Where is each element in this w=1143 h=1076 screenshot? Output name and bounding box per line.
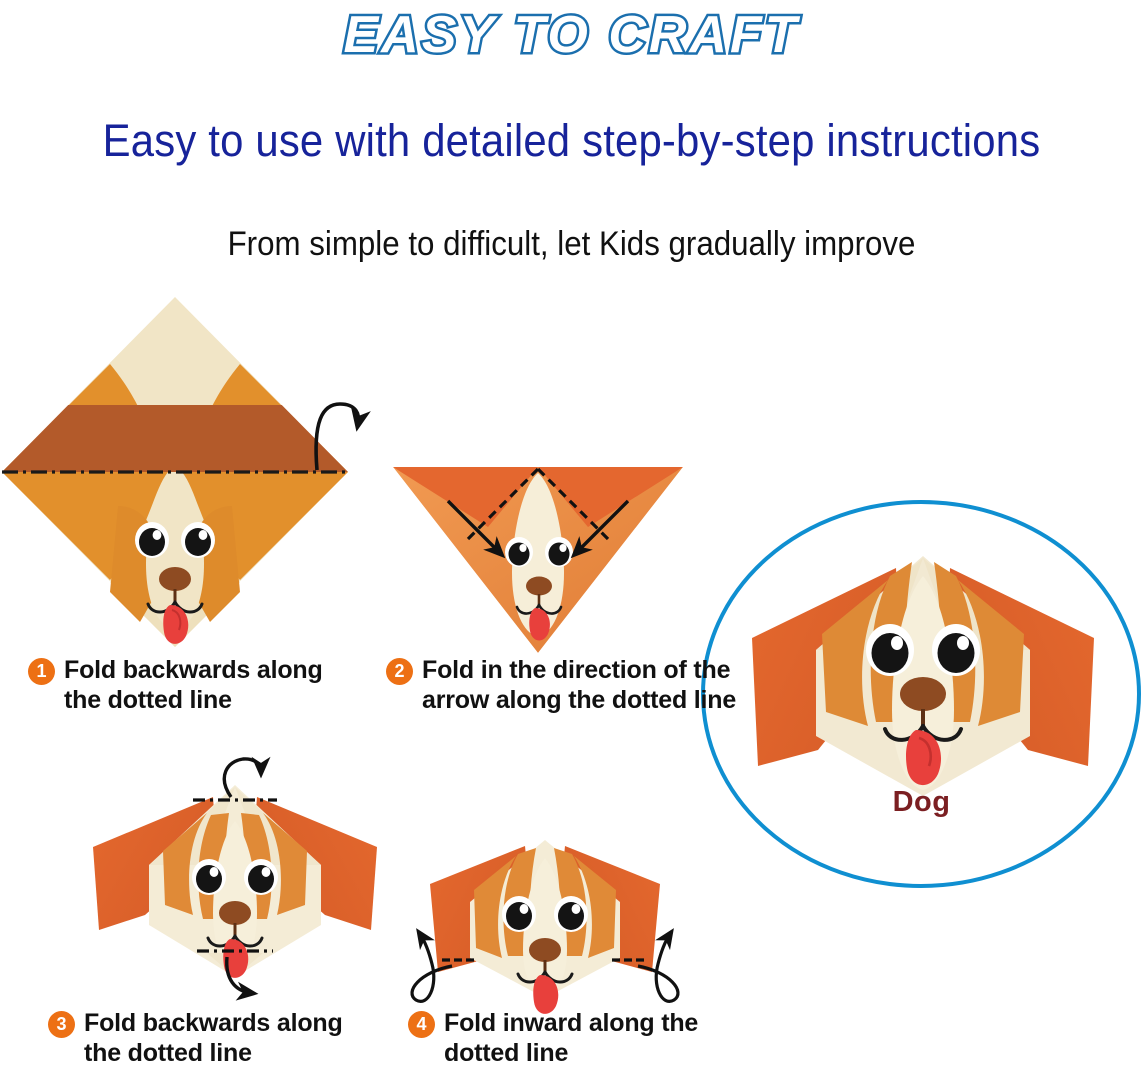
step-3-caption: 3 Fold backwards along the dotted line (48, 1008, 384, 1068)
result-figure (700, 498, 1143, 898)
step-2-figure (388, 455, 688, 655)
step-3-badge: 3 (48, 1011, 75, 1038)
result-label: Dog (700, 786, 1143, 819)
step-2-caption: 2 Fold in the direction of the arrow alo… (386, 655, 742, 715)
step-2-text: Fold in the direction of the arrow along… (422, 655, 742, 715)
step-2-badge: 2 (386, 658, 413, 685)
step-1-caption: 1 Fold backwards along the dotted line (28, 655, 364, 715)
step-4-badge: 4 (408, 1011, 435, 1038)
craft-instruction-page: EASY TO CRAFT Easy to use with detailed … (0, 0, 1143, 1076)
step-4-text: Fold inward along the dotted line (444, 1008, 744, 1068)
page-tagline: From simple to difficult, let Kids gradu… (46, 225, 1098, 264)
step-3-text: Fold backwards along the dotted line (84, 1008, 384, 1068)
step-4-figure (390, 840, 700, 1010)
step-1-figure (0, 292, 380, 652)
step-1-badge: 1 (28, 658, 55, 685)
step-3-figure (85, 755, 385, 1000)
page-title: EASY TO CRAFT (0, 2, 1143, 68)
page-subtitle: Easy to use with detailed step-by-step i… (40, 115, 1103, 167)
step-1-text: Fold backwards along the dotted line (64, 655, 364, 715)
step-4-caption: 4 Fold inward along the dotted line (408, 1008, 744, 1068)
